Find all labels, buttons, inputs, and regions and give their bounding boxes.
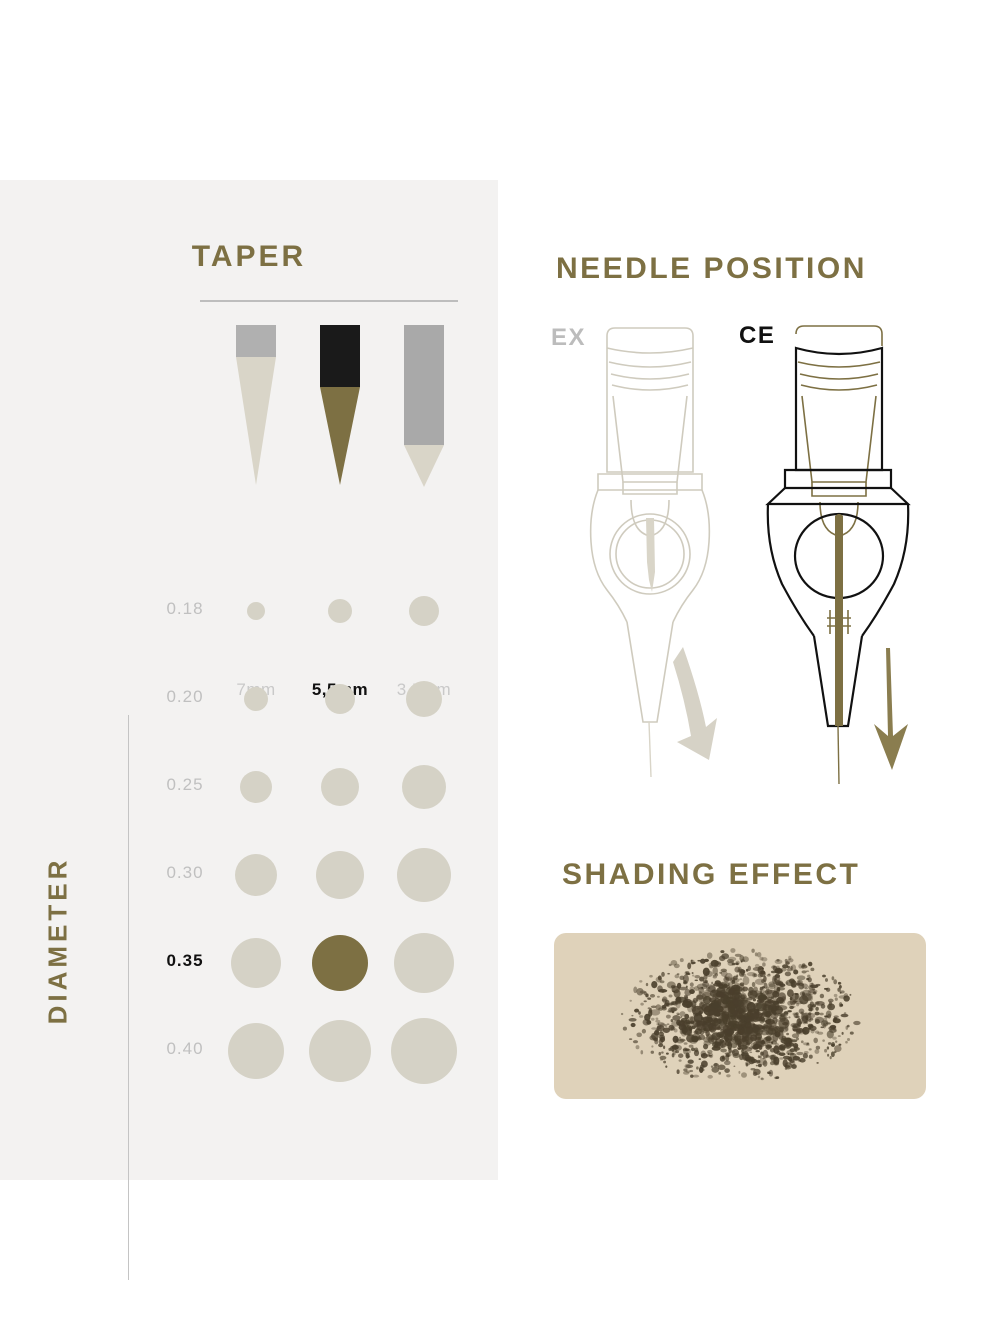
diameter-dot [240,771,272,803]
needle-tip-ce [838,726,839,784]
diameter-dot [309,1020,371,1082]
diameter-row-label: 0.20 [140,687,230,707]
diameter-dot [391,1018,457,1084]
diameter-dot [406,681,442,717]
needle-shaft-ce [835,514,843,726]
diameter-row-label: 0.25 [140,775,230,795]
needle-tip-ex [649,722,651,777]
diameter-row-label: 0.40 [140,1039,230,1059]
diameter-dot [321,768,359,806]
diameter-row-label: 0.30 [140,863,230,883]
cartridge-diagram-ex [565,322,735,782]
direction-arrow-ex [673,647,717,760]
direction-arrow-ce [874,648,908,770]
diameter-row: 0.18 [0,563,498,659]
needle-position-heading: NEEDLE POSITION [556,252,867,286]
diameter-dot [228,1023,284,1079]
diameter-dot-grid: 0.180.200.250.300.350.40 [0,180,498,1180]
shading-effect-heading: SHADING EFFECT [562,858,860,892]
diameter-dot [325,684,355,714]
diameter-dot [328,599,352,623]
diameter-dot [247,602,265,620]
shading-effect-swatch [554,933,926,1099]
diameter-dot [397,848,451,902]
diameter-dot [312,935,368,991]
diameter-row: 0.25 [0,739,498,835]
needle-shaft-ex [646,518,655,592]
diameter-row: 0.35 [0,915,498,1011]
diameter-row: 0.40 [0,1003,498,1099]
stipple-texture [554,933,926,1099]
diameter-row: 0.20 [0,651,498,747]
diameter-dot [394,933,454,993]
diameter-row-label: 0.18 [140,599,230,619]
diameter-dot [409,596,439,626]
diameter-dot [235,854,277,896]
diameter-row-label: 0.35 [140,951,230,971]
diameter-row: 0.30 [0,827,498,923]
taper-diameter-panel: TAPER 7mm 5,5mm 3.5mm DIAMETER 0.180.200… [0,180,498,1180]
cartridge-diagram-ce [752,318,927,788]
diameter-dot [316,851,364,899]
diameter-dot [231,938,281,988]
diameter-dot [402,765,446,809]
diameter-dot [244,687,268,711]
